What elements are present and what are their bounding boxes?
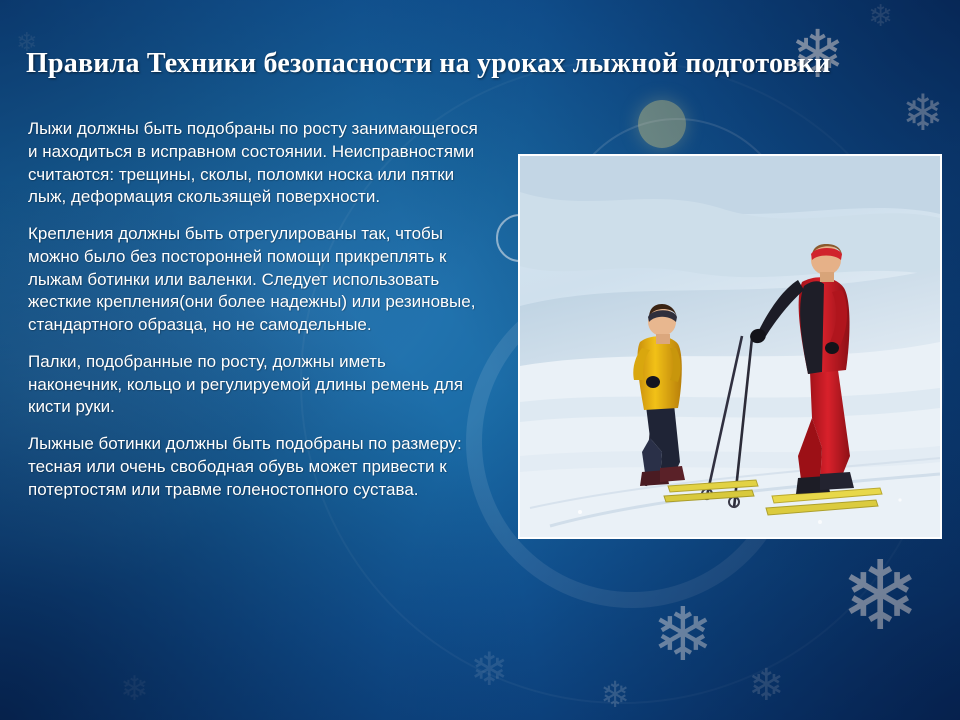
snowflake-icon: ❄: [840, 548, 920, 644]
paragraph: Крепления должны быть отрегулированы так…: [28, 223, 480, 337]
body-text: Лыжи должны быть подобраны по росту зани…: [28, 118, 480, 515]
skiers-photo: [518, 154, 942, 539]
slide: ❄ ❄ ❄ ❄ ❄ ❄ ❄ ❄ ❄ ❄ ❄ Правила Техники бе…: [0, 0, 960, 720]
snowflake-icon: ❄: [868, 2, 893, 32]
paragraph: Лыжи должны быть подобраны по росту зани…: [28, 118, 480, 209]
snowflake-icon: ❄: [652, 598, 714, 672]
page-title: Правила Техники безопасности на уроках л…: [26, 48, 946, 80]
snowflake-icon: ❄: [470, 646, 509, 692]
snowflake-icon: ❄: [748, 664, 785, 708]
paragraph: Лыжные ботинки должны быть подобраны по …: [28, 433, 480, 501]
snowflake-icon: ❄: [902, 88, 944, 138]
paragraph: Палки, подобранные по росту, должны имет…: [28, 351, 480, 419]
skiers-photo-illustration: [520, 156, 940, 537]
snowflake-icon: ❄: [600, 678, 630, 714]
decor-disc-sun: [638, 100, 686, 148]
snowflake-icon: ❄: [120, 672, 149, 706]
